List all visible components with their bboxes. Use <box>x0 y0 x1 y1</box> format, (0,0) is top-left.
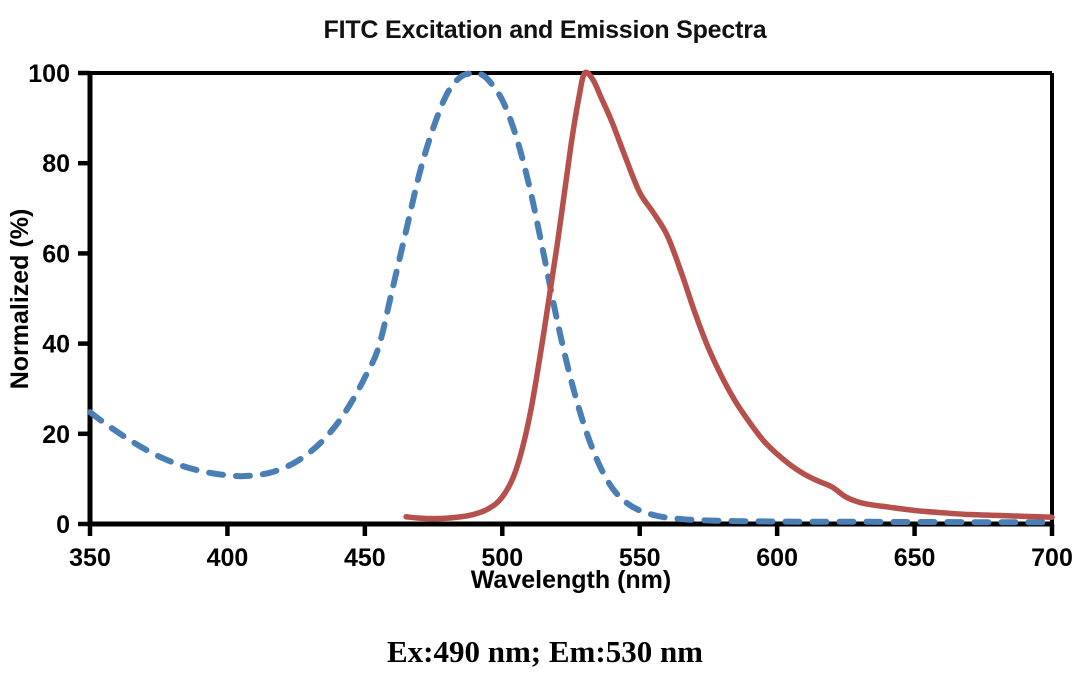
x-tick-label: 400 <box>207 544 249 572</box>
figure-container: FITC Excitation and Emission Spectra 020… <box>0 0 1090 699</box>
x-tick-label: 650 <box>894 544 936 572</box>
x-tick-label: 600 <box>756 544 798 572</box>
y-tick-label: 100 <box>28 60 70 88</box>
x-tick-label: 700 <box>1031 544 1073 572</box>
figure-caption: Ex:490 nm; Em:530 nm <box>0 634 1090 670</box>
y-tick-label: 20 <box>42 421 70 449</box>
y-tick-label: 40 <box>42 331 70 359</box>
x-tick-label: 450 <box>344 544 386 572</box>
y-axis-tick-labels: 020406080100 <box>28 60 70 539</box>
y-axis-title: Normalized (%) <box>6 209 34 390</box>
y-tick-label: 0 <box>56 511 70 539</box>
y-tick-label: 60 <box>42 240 70 268</box>
x-tick-label: 350 <box>69 544 111 572</box>
y-tick-label: 80 <box>42 150 70 178</box>
emission-spectrum-curve <box>406 72 1052 518</box>
spectra-plot: 020406080100 350400450500550600650700 Wa… <box>0 0 1090 699</box>
x-axis-title: Wavelength (nm) <box>471 566 671 594</box>
